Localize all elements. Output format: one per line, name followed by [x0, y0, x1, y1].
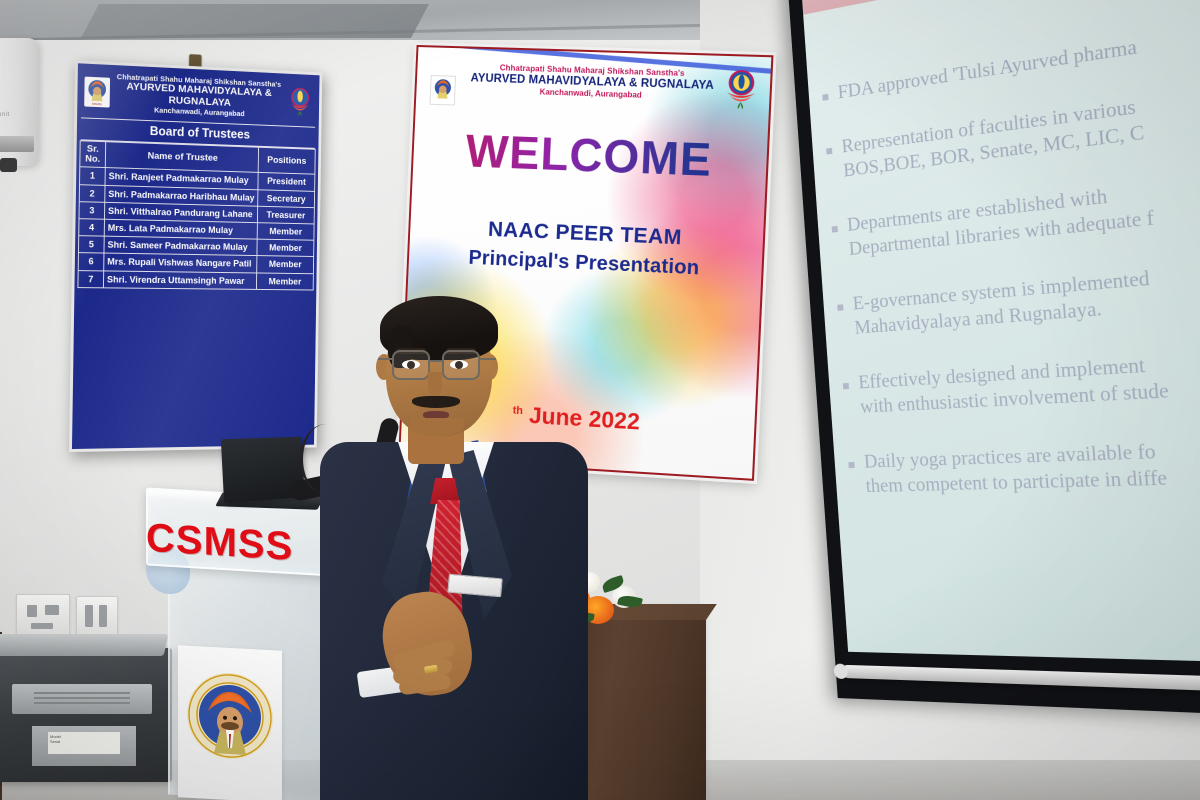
- moustache: [412, 396, 460, 408]
- svg-text:SHAHU: SHAHU: [92, 102, 102, 106]
- list-item: E-governance system is implemented Mahav…: [836, 250, 1200, 343]
- printer-label: Model Serial: [48, 732, 120, 754]
- trustees-table: Sr. No. Name of Trustee Positions 1Shri.…: [77, 141, 315, 291]
- col-header-sr: Sr. No.: [80, 141, 106, 168]
- table-row: 7Shri. Virendra Uttamsingh PawarMember: [78, 270, 313, 290]
- printer-lid: [0, 634, 168, 656]
- eyeglasses-lens: [392, 350, 430, 380]
- eyeglasses-arm: [480, 358, 496, 360]
- unit-sensor: [0, 158, 17, 172]
- bullet-square-icon: [832, 226, 838, 233]
- eyeglasses-arm: [378, 358, 394, 360]
- shahu-maharaj-portrait-icon: SHAHU: [84, 77, 110, 108]
- printer-device: Model Serial: [0, 648, 172, 782]
- bullet-square-icon: [826, 148, 832, 155]
- welcome-heading: WELCOME: [413, 122, 768, 189]
- eyeglasses-lens: [442, 350, 480, 380]
- slide-bullet-list: FDA approved 'Tulsi Ayurved pharma Repre…: [822, 6, 1200, 530]
- printer-output-tray: [12, 684, 152, 714]
- projected-slide: Presentat Key Hig FDA approved 'Tulsi Ay…: [801, 0, 1200, 664]
- banner-header: Chhatrapati Shahu Maharaj Shikshan Sanst…: [416, 47, 771, 104]
- wall-switch-plate[interactable]: [76, 596, 118, 638]
- nose: [428, 372, 442, 398]
- col-header-position: Positions: [258, 148, 315, 175]
- wall-socket[interactable]: [16, 594, 70, 638]
- list-item: FDA approved 'Tulsi Ayurved pharma: [822, 6, 1200, 108]
- board-header-text: Chhatrapati Shahu Maharaj Shikshan Sanst…: [114, 73, 283, 120]
- wall-mounted-unit: unit: [0, 38, 38, 166]
- podium-emblem-card: [178, 645, 282, 800]
- bullet-square-icon: [848, 462, 854, 468]
- printer-rear-panel: Model Serial: [32, 726, 136, 766]
- bullet-square-icon: [837, 305, 843, 312]
- unit-label: unit: [0, 112, 10, 118]
- list-item: Effectively designed and implement with …: [842, 341, 1200, 421]
- bullet-square-icon: [843, 383, 849, 389]
- slide-header-band: Presentat: [801, 0, 1200, 19]
- presentation-room-photo: unit SHAHU Chh: [0, 0, 1200, 800]
- chin: [410, 418, 464, 436]
- projection-screen: Presentat Key Hig FDA approved 'Tulsi Ay…: [787, 0, 1200, 716]
- board-of-trustees-sign: SHAHU Chhatrapati Shahu Maharaj Shikshan…: [69, 60, 322, 452]
- institution-emblem-icon: [186, 670, 274, 763]
- ayurved-emblem-icon: [287, 86, 313, 116]
- bullet-square-icon: [822, 94, 828, 101]
- eyeglasses-bridge: [430, 360, 444, 362]
- speaker-presenter: [330, 292, 590, 800]
- trustees-table-body: 1Shri. Ranjeet Padmakarrao MulayPresiden…: [78, 167, 315, 290]
- unit-vent: [0, 136, 34, 152]
- list-item: Daily yoga practices are available fo th…: [848, 432, 1200, 500]
